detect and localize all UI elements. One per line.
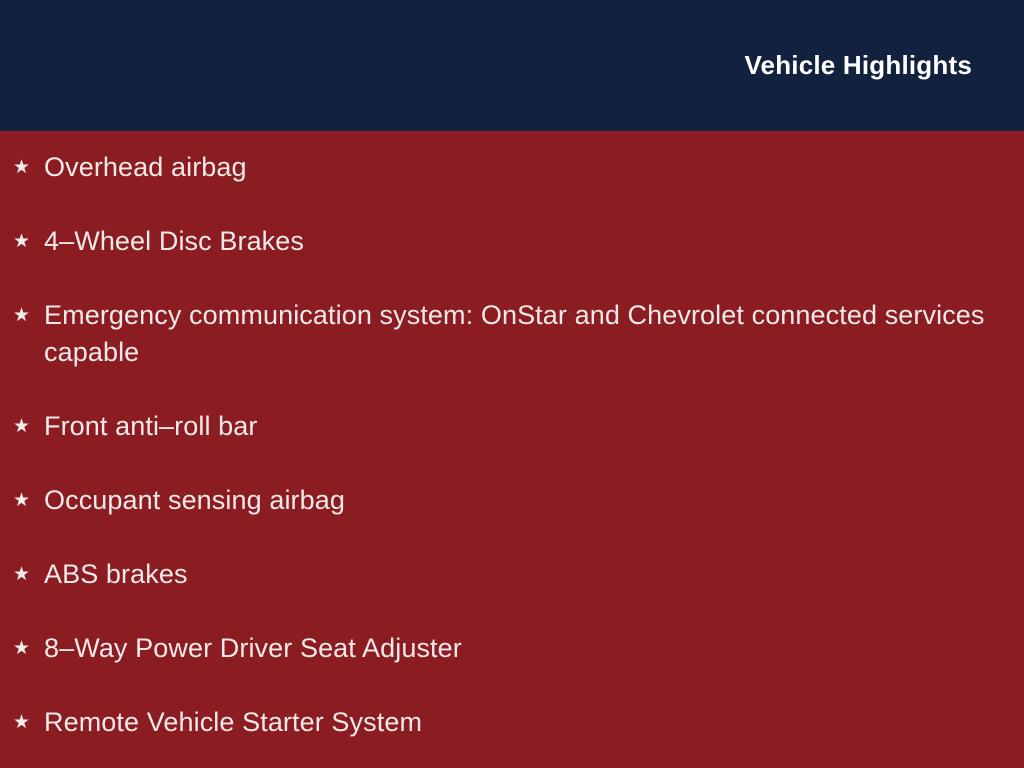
star-bullet-icon: ★	[12, 630, 44, 667]
star-bullet-icon: ★	[12, 408, 44, 445]
list-item: ★ Front anti–roll bar	[12, 408, 994, 445]
slide-canvas: Vehicle Highlights ★ Overhead airbag ★ 4…	[0, 0, 1024, 768]
list-item-label: Front anti–roll bar	[44, 408, 989, 445]
list-item: ★ Emergency communication system: OnStar…	[12, 297, 994, 371]
page-title: Vehicle Highlights	[744, 0, 972, 131]
star-bullet-icon: ★	[12, 223, 44, 260]
list-item: ★ Occupant sensing airbag	[12, 482, 994, 519]
vehicle-highlights-list: ★ Overhead airbag ★ 4–Wheel Disc Brakes …	[0, 131, 1024, 768]
star-bullet-icon: ★	[12, 297, 44, 334]
list-item: ★ Overhead airbag	[12, 149, 994, 186]
list-item-label: Remote Vehicle Starter System	[44, 704, 989, 741]
list-item-label: Occupant sensing airbag	[44, 482, 989, 519]
list-item-label: Emergency communication system: OnStar a…	[44, 297, 989, 371]
list-item: ★ 8–Way Power Driver Seat Adjuster	[12, 630, 994, 667]
star-bullet-icon: ★	[12, 556, 44, 593]
star-bullet-icon: ★	[12, 482, 44, 519]
list-item: ★ ABS brakes	[12, 556, 994, 593]
list-item: ★ 4–Wheel Disc Brakes	[12, 223, 994, 260]
list-item-label: 4–Wheel Disc Brakes	[44, 223, 989, 260]
list-item-label: ABS brakes	[44, 556, 989, 593]
list-item-label: 8–Way Power Driver Seat Adjuster	[44, 630, 989, 667]
list-item-label: Overhead airbag	[44, 149, 989, 186]
list-item: ★ Remote Vehicle Starter System	[12, 704, 994, 741]
star-bullet-icon: ★	[12, 149, 44, 186]
star-bullet-icon: ★	[12, 704, 44, 741]
slide-header-bar: Vehicle Highlights	[0, 0, 1024, 131]
